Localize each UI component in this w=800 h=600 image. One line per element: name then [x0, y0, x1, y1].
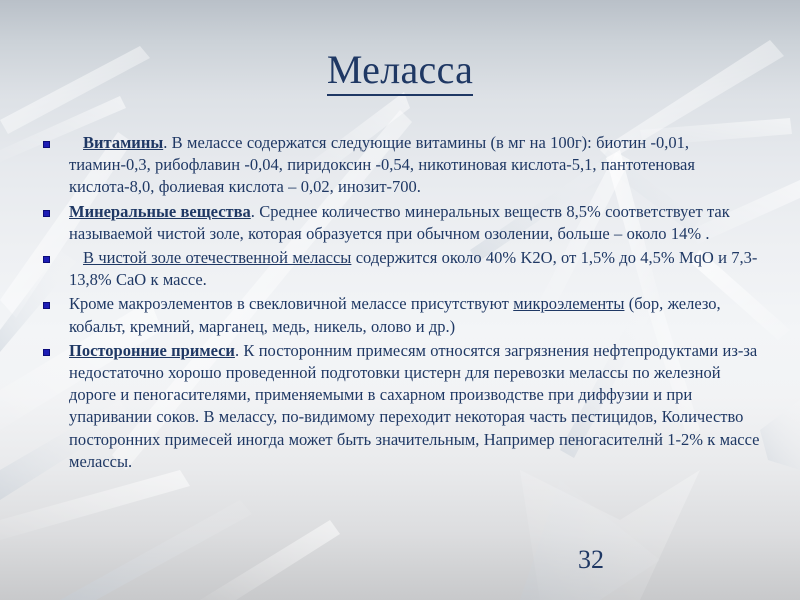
bullet-term-microelements: микроэлементы — [513, 294, 624, 313]
bullet-square-icon — [34, 201, 69, 217]
list-item: Кроме макроэлементов в свекловичной мела… — [34, 293, 770, 337]
bullet-lead-impurities: Посторонние примеси — [69, 341, 235, 360]
bullet-body-vitamins: . В мелассе содержатся следующие витамин… — [69, 133, 695, 196]
page-title: Меласса — [327, 47, 473, 96]
bullet-text: Минеральные вещества. Среднее количество… — [69, 201, 770, 245]
list-item: Витамины. В мелассе содержатся следующие… — [34, 132, 770, 199]
bullet-text: Кроме макроэлементов в свекловичной мела… — [69, 293, 770, 337]
bullet-lead-vitamins: Витамины — [69, 133, 163, 152]
bullet-text: Посторонние примеси. К посторонним приме… — [69, 340, 770, 473]
list-item: В чистой золе отечественной мелассы соде… — [34, 247, 770, 291]
bullet-text: В чистой золе отечественной мелассы соде… — [69, 247, 770, 291]
bullet-text: Витамины. В мелассе содержатся следующие… — [69, 132, 770, 199]
presentation-slide: Меласса Витамины. В мелассе содержатся с… — [0, 0, 800, 600]
bullet-square-icon — [34, 293, 69, 309]
bullet-lead-minerals: Минеральные вещества — [69, 202, 251, 221]
list-item: Посторонние примеси. К посторонним приме… — [34, 340, 770, 473]
page-number: 32 — [578, 545, 604, 575]
bullet-list: Витамины. В мелассе содержатся следующие… — [34, 132, 770, 475]
bullet-body-macro-prefix: Кроме макроэлементов в свекловичной мела… — [69, 294, 513, 313]
bullet-square-icon — [34, 247, 69, 263]
title-container: Меласса — [0, 47, 800, 96]
bullet-square-icon — [34, 132, 69, 148]
list-item: Минеральные вещества. Среднее количество… — [34, 201, 770, 245]
bullet-square-icon — [34, 340, 69, 356]
bullet-lead-pure-ash: В чистой золе отечественной мелассы — [69, 248, 351, 267]
bullet-body-impurities: . К посторонним примесям относятся загря… — [69, 341, 759, 471]
